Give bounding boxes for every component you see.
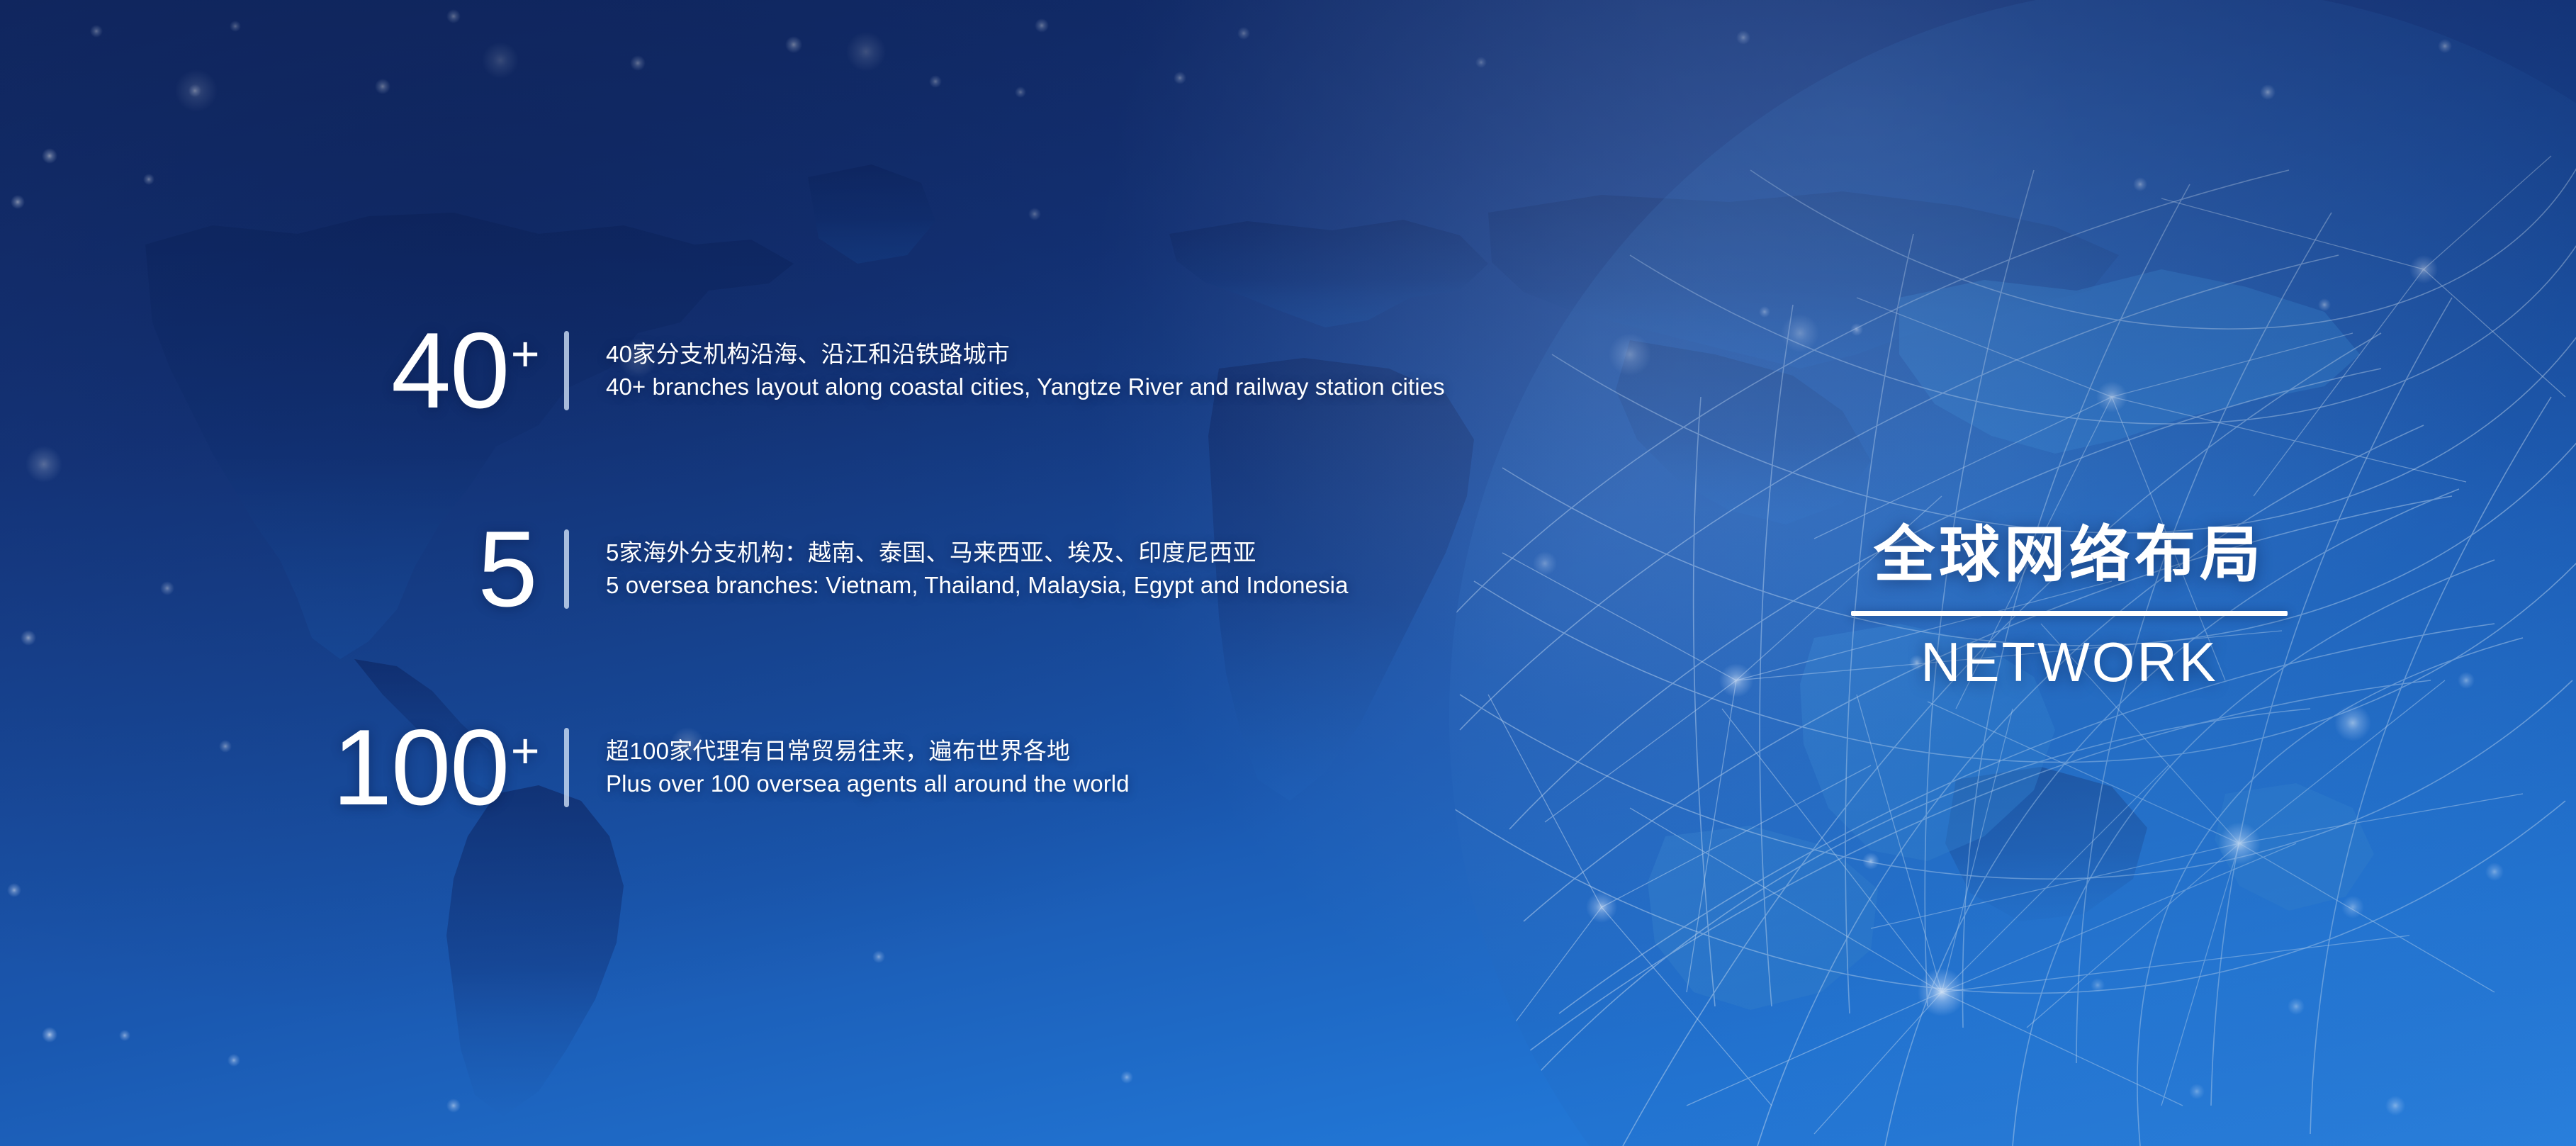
stat-number-value: 5 xyxy=(478,509,536,629)
stat-number-suffix: + xyxy=(511,723,539,778)
page-title-en: NETWORK xyxy=(1851,634,2288,690)
title-rule xyxy=(1851,611,2288,616)
stat-divider xyxy=(564,529,569,609)
stat-row: 5 5家海外分支机构：越南、泰国、马来西亚、埃及、印度尼西亚 5 oversea… xyxy=(191,521,2034,618)
stat-text-cn: 40家分支机构沿海、沿江和沿铁路城市 xyxy=(606,338,1445,371)
stat-number-suffix: + xyxy=(511,326,539,381)
stat-text-group: 超100家代理有日常贸易往来，遍布世界各地 Plus over 100 over… xyxy=(606,735,1130,802)
stat-number: 100+ xyxy=(191,719,539,816)
stat-text-en: 40+ branches layout along coastal cities… xyxy=(606,371,1445,404)
stat-text-group: 5家海外分支机构：越南、泰国、马来西亚、埃及、印度尼西亚 5 oversea b… xyxy=(606,537,1349,603)
stat-number-value: 40 xyxy=(391,310,509,431)
stat-number: 5 xyxy=(191,521,539,618)
stat-text-cn: 超100家代理有日常贸易往来，遍布世界各地 xyxy=(606,735,1130,768)
stat-divider xyxy=(564,331,569,410)
stat-row: 40+ 40家分支机构沿海、沿江和沿铁路城市 40+ branches layo… xyxy=(191,322,2034,420)
network-banner: 40+ 40家分支机构沿海、沿江和沿铁路城市 40+ branches layo… xyxy=(0,0,2576,1146)
stat-text-cn: 5家海外分支机构：越南、泰国、马来西亚、埃及、印度尼西亚 xyxy=(606,537,1349,570)
stat-text-en: Plus over 100 oversea agents all around … xyxy=(606,768,1130,801)
stat-number: 40+ xyxy=(191,322,539,420)
stat-text-en: 5 oversea branches: Vietnam, Thailand, M… xyxy=(606,569,1349,602)
stat-number-value: 100 xyxy=(332,707,509,828)
stat-row: 100+ 超100家代理有日常贸易往来，遍布世界各地 Plus over 100… xyxy=(191,719,2034,816)
stat-text-group: 40家分支机构沿海、沿江和沿铁路城市 40+ branches layout a… xyxy=(606,338,1445,405)
page-title-cn: 全球网络布局 xyxy=(1851,524,2288,585)
banner-content: 40+ 40家分支机构沿海、沿江和沿铁路城市 40+ branches layo… xyxy=(0,0,2576,1146)
stat-divider xyxy=(564,728,569,807)
network-title-block: 全球网络布局 NETWORK xyxy=(1851,524,2288,690)
